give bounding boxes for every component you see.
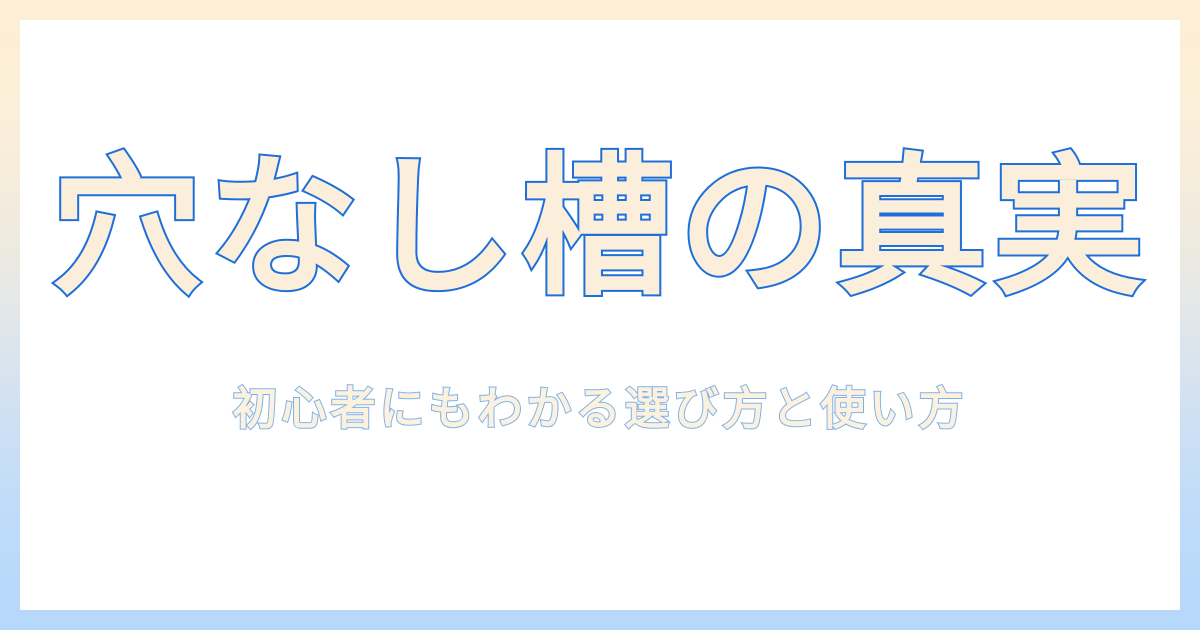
page-title: 穴なし槽の真実 xyxy=(51,148,1150,308)
subtitle-block: 初心者にもわかる選び方と使い方 xyxy=(20,382,1180,436)
inner-white-panel: 穴なし槽の真実 初心者にもわかる選び方と使い方 xyxy=(20,20,1180,610)
page-subtitle: 初心者にもわかる選び方と使い方 xyxy=(232,382,967,436)
eyecatch-card: 穴なし槽の真実 初心者にもわかる選び方と使い方 xyxy=(0,0,1200,630)
title-block: 穴なし槽の真実 xyxy=(20,148,1180,308)
